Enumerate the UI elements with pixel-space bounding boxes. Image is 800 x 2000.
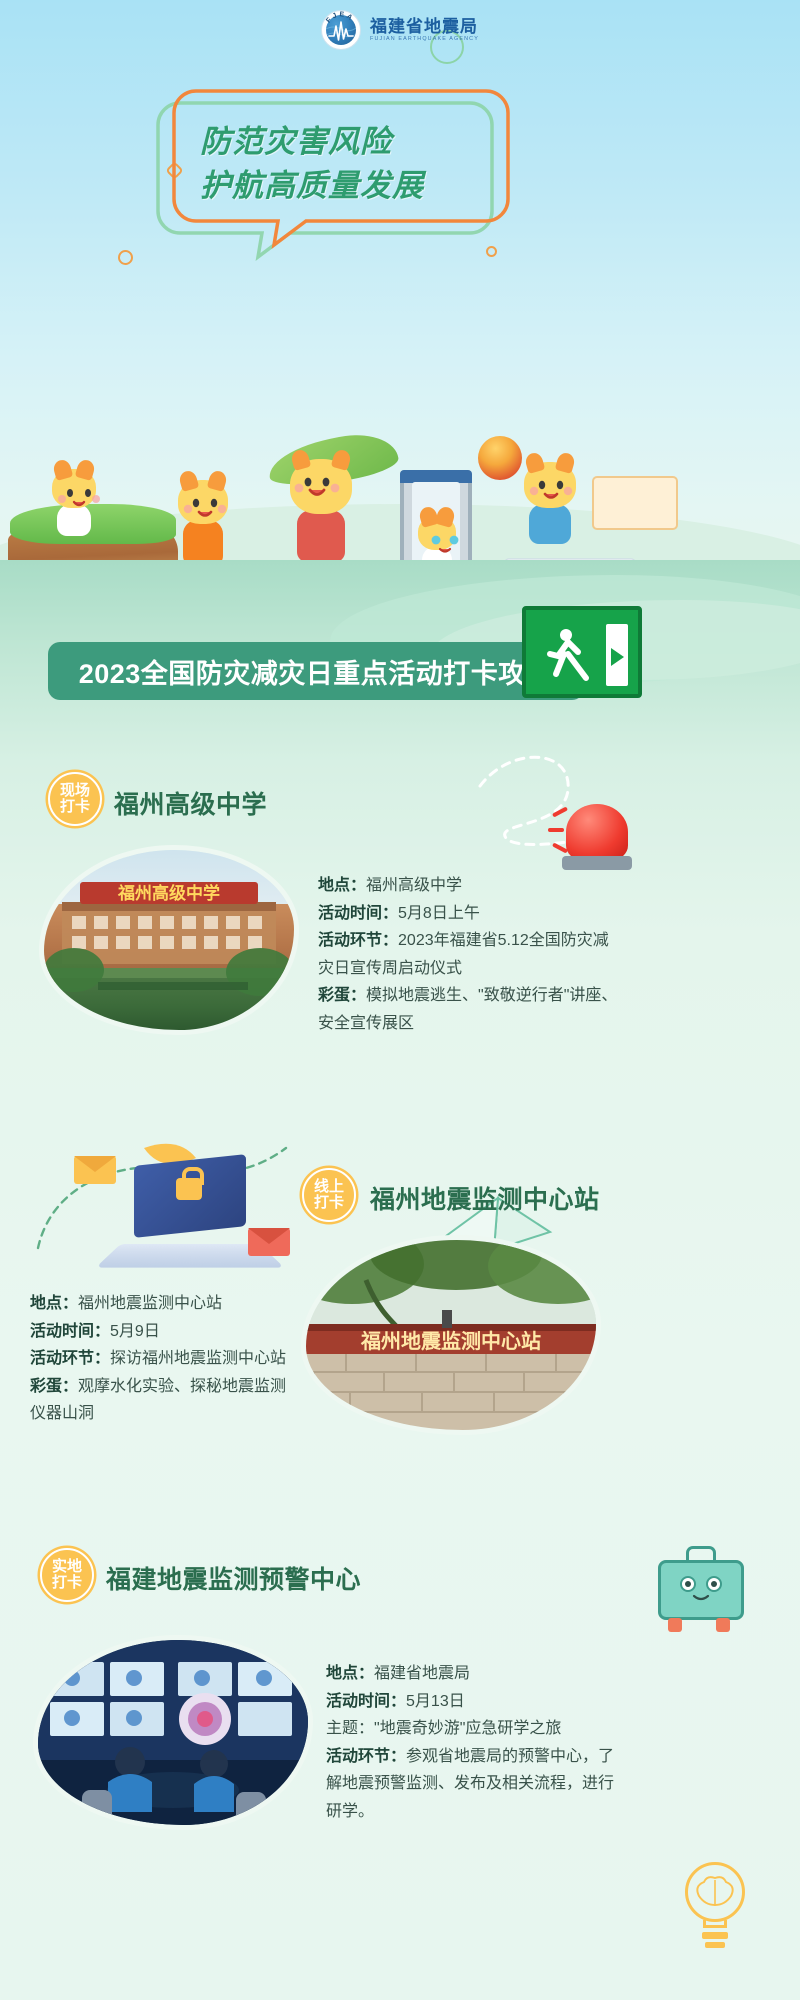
section-info-2: 地点：福州地震监测中心站 活动时间：5月9日 活动环节：探访福州地震监测中心站 … — [30, 1290, 295, 1428]
info-label: 地点： — [30, 1295, 78, 1312]
info-label: 彩蛋： — [30, 1378, 78, 1395]
badge-line-1: 线上 — [314, 1179, 344, 1195]
org-name-en: FUJIAN EARTHQUAKE AGENCY — [370, 36, 479, 43]
hero-title-line-1: 防范灾害风险 — [200, 120, 490, 164]
info-value: 5月13日 — [406, 1693, 465, 1710]
section-heading-1: 福州高级中学 — [114, 785, 267, 821]
info-value: 探访福州地震监测中心站 — [110, 1350, 286, 1367]
envelope-icon-1 — [74, 1156, 116, 1184]
org-name-cn: 福建省地震局 — [370, 17, 479, 37]
envelope-icon-2 — [248, 1228, 290, 1256]
badge-field-checkin: 实地 打卡 — [40, 1548, 94, 1602]
desk-illustration — [592, 476, 678, 530]
section-heading-3: 福建地震监测预警中心 — [106, 1560, 361, 1596]
info-value: 福州高级中学 — [366, 877, 462, 894]
info-value: "地震奇妙游"应急研学之旅 — [374, 1720, 561, 1737]
badge-line-2: 打卡 — [314, 1195, 344, 1211]
mascot-rescue-worker — [178, 480, 228, 566]
badge-line-2: 打卡 — [60, 799, 90, 815]
info-label: 彩蛋： — [318, 987, 366, 1004]
suitcase-mascot-icon — [658, 1540, 744, 1632]
info-value: 5月9日 — [110, 1323, 160, 1340]
info-value: 福州地震监测中心站 — [78, 1295, 222, 1312]
idea-lightbulb-icon — [676, 1862, 754, 1958]
info-label: 主题： — [326, 1720, 374, 1737]
section-info-1: 地点：福州高级中学 活动时间：5月8日上午 活动环节：2023年福建省5.12全… — [318, 872, 618, 1037]
hero-speech-bubble: 防范灾害风险 护航高质量发展 — [140, 75, 510, 265]
info-label: 活动时间： — [30, 1323, 110, 1340]
decorative-ring-orange-1 — [118, 250, 133, 265]
section-title-banner: 2023全国防灾减灾日重点活动打卡攻略 — [48, 642, 584, 700]
emergency-exit-sign-icon — [522, 606, 642, 698]
info-label: 地点： — [318, 877, 366, 894]
laptop-lock-illustration — [110, 1160, 270, 1280]
fuzhou-high-school-photo: 福州高级中学 — [44, 850, 294, 1030]
mascot-runner-red-vest — [290, 459, 352, 562]
red-alarm-light-icon — [556, 790, 642, 876]
section-title-text: 2023全国防灾减灾日重点活动打卡攻略 — [79, 652, 554, 691]
info-label: 活动环节： — [318, 932, 398, 949]
badge-line-2: 打卡 — [52, 1575, 82, 1591]
badge-line-1: 现场 — [60, 783, 90, 799]
section-info-3: 地点：福建省地震局 活动时间：5月13日 主题："地震奇妙游"应急研学之旅 活动… — [326, 1660, 616, 1825]
photo-caption-1: 福州高级中学 — [117, 883, 220, 903]
hero-title: 防范灾害风险 护航高质量发展 — [200, 120, 490, 208]
fujian-early-warning-center-photo — [38, 1640, 308, 1825]
earth-layers-globe — [478, 436, 522, 480]
info-value: 福建省地震局 — [374, 1665, 470, 1682]
org-logo-bar: FJEA 福建省地震局 FUJIAN EARTHQUAKE AGENCY — [0, 8, 800, 52]
mascot-scientist — [52, 469, 96, 536]
section-heading-2: 福州地震监测中心站 — [370, 1180, 600, 1216]
info-label: 活动环节： — [30, 1350, 110, 1367]
badge-online-checkin: 线上 打卡 — [302, 1168, 356, 1222]
badge-onsite-checkin: 现场 打卡 — [48, 772, 102, 826]
fjea-seismograph-logo-icon: FJEA — [321, 10, 361, 50]
photo-caption-2: 福州地震监测中心站 — [360, 1329, 541, 1353]
badge-line-1: 实地 — [52, 1559, 82, 1575]
fuzhou-seismic-monitoring-station-photo: 福州地震监测中心站 — [306, 1240, 596, 1430]
mascot-presenter-blue — [524, 462, 576, 544]
svg-text:FJEA: FJEA — [325, 11, 355, 24]
infographic-page: FJEA 福建省地震局 FUJIAN EARTHQUAKE AGENCY 防范灾… — [0, 0, 800, 2000]
info-label: 活动时间： — [326, 1693, 406, 1710]
info-value: 5月8日上午 — [398, 905, 480, 922]
info-label: 地点： — [326, 1665, 374, 1682]
hero-title-line-2: 护航高质量发展 — [200, 164, 490, 208]
info-label: 活动环节： — [326, 1748, 406, 1765]
info-label: 活动时间： — [318, 905, 398, 922]
